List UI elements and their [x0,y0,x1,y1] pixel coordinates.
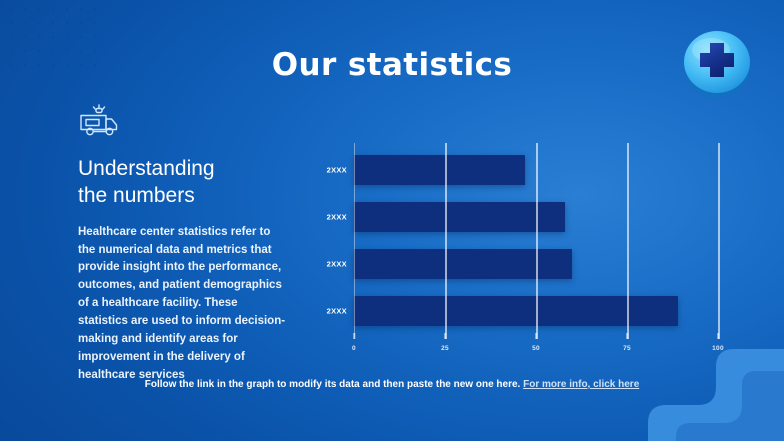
ambulance-icon [78,102,122,140]
chart-category-label: 2XXX [327,307,347,316]
chart-tick-mark [626,333,628,339]
footer-note: Follow the link in the graph to modify i… [0,379,784,390]
chart-tick-label: 25 [441,345,449,352]
section-heading-line1: Understanding [78,157,215,180]
page-title: Our statistics [0,47,784,83]
chart-gridline [536,143,538,339]
chart-bar[interactable] [354,296,678,326]
more-info-link[interactable]: For more info, click here [523,379,639,390]
slide-canvas: Our statistics Understanding the numbers… [0,0,784,441]
chart-tick-label: 75 [623,345,631,352]
section-heading-line2: the numbers [78,184,195,207]
chart-category-label: 2XXX [327,260,347,269]
footer-text: Follow the link in the graph to modify i… [145,379,521,390]
chart-tick-mark [717,333,719,339]
chart-gridline [445,143,447,339]
chart-tick-label: 0 [352,345,356,352]
rounded-step-shape [646,345,784,441]
section-heading: Understanding the numbers [78,155,294,210]
chart-x-axis: 0255075100 [354,339,718,355]
chart-bar[interactable] [354,155,525,185]
chart-bar[interactable] [354,202,565,232]
chart-gridline [354,143,355,339]
chart-gridline [627,143,629,339]
chart-tick-mark [444,333,446,339]
chart-category-label: 2XXX [327,166,347,175]
statistics-bar-chart[interactable]: 2XXX2XXX2XXX2XXX 0255075100 [318,143,718,355]
section-body-text: Healthcare center statistics refer to th… [78,224,288,385]
chart-tick-mark [353,333,355,339]
chart-tick-mark [535,333,537,339]
left-column: Understanding the numbers Healthcare cen… [78,102,294,385]
chart-category-label: 2XXX [327,213,347,222]
chart-tick-label: 50 [532,345,540,352]
chart-tick-label: 100 [712,345,724,352]
chart-gridline [718,143,720,339]
chart-bar[interactable] [354,249,572,279]
chart-plot-area: 2XXX2XXX2XXX2XXX [354,143,718,339]
